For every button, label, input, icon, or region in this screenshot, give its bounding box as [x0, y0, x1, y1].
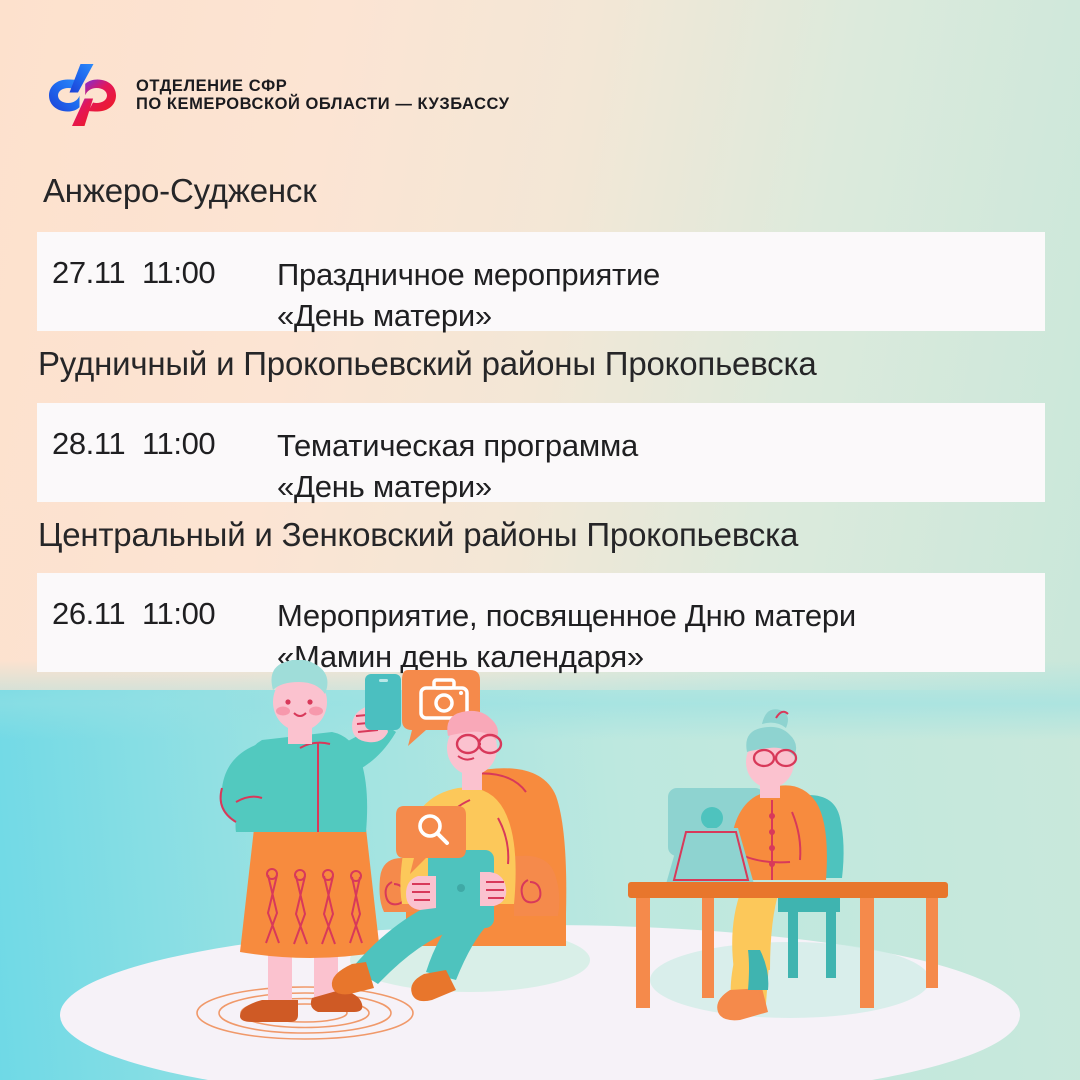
desk-leg-mid — [702, 898, 714, 998]
event-time: 11:00 — [142, 232, 277, 290]
desk-top — [628, 882, 948, 898]
section-city-2: Рудничный и Прокопьевский районы Прокопь… — [38, 345, 817, 383]
event-date: 26.11 — [37, 573, 142, 631]
desk-leg-back — [926, 898, 938, 988]
desk-leg-right — [860, 898, 874, 1008]
event-date: 28.11 — [37, 403, 142, 461]
brand-line-1: ОТДЕЛЕНИЕ СФР — [136, 77, 510, 95]
brand-line-2: ПО КЕМЕРОВСКОЙ ОБЛАСТИ — КУЗБАССУ — [136, 95, 510, 113]
event-time: 11:00 — [142, 403, 277, 461]
event-card-3: 26.11 11:00 Мероприятие, посвященное Дню… — [37, 573, 1045, 672]
desk-leg-left — [636, 898, 650, 1008]
sfr-logo-icon — [47, 62, 119, 128]
event-card-2: 28.11 11:00 Тематическая программа «День… — [37, 403, 1045, 502]
event-title: Тематическая программа «День матери» — [277, 403, 1045, 507]
section-city-1: Анжеро-Судженск — [43, 172, 316, 210]
section-city-3: Центральный и Зенковский районы Прокопье… — [38, 516, 798, 554]
event-date: 27.11 — [37, 232, 142, 290]
event-title: Праздничное мероприятие «День матери» — [277, 232, 1045, 336]
brand-header: ОТДЕЛЕНИЕ СФР ПО КЕМЕРОВСКОЙ ОБЛАСТИ — К… — [47, 62, 510, 128]
poster: ОТДЕЛЕНИЕ СФР ПО КЕМЕРОВСКОЙ ОБЛАСТИ — К… — [0, 0, 1080, 1080]
seniors-illustration — [0, 660, 1080, 1080]
event-time: 11:00 — [142, 573, 277, 631]
event-card-1: 27.11 11:00 Праздничное мероприятие «Ден… — [37, 232, 1045, 331]
smartphone-icon — [365, 674, 401, 730]
